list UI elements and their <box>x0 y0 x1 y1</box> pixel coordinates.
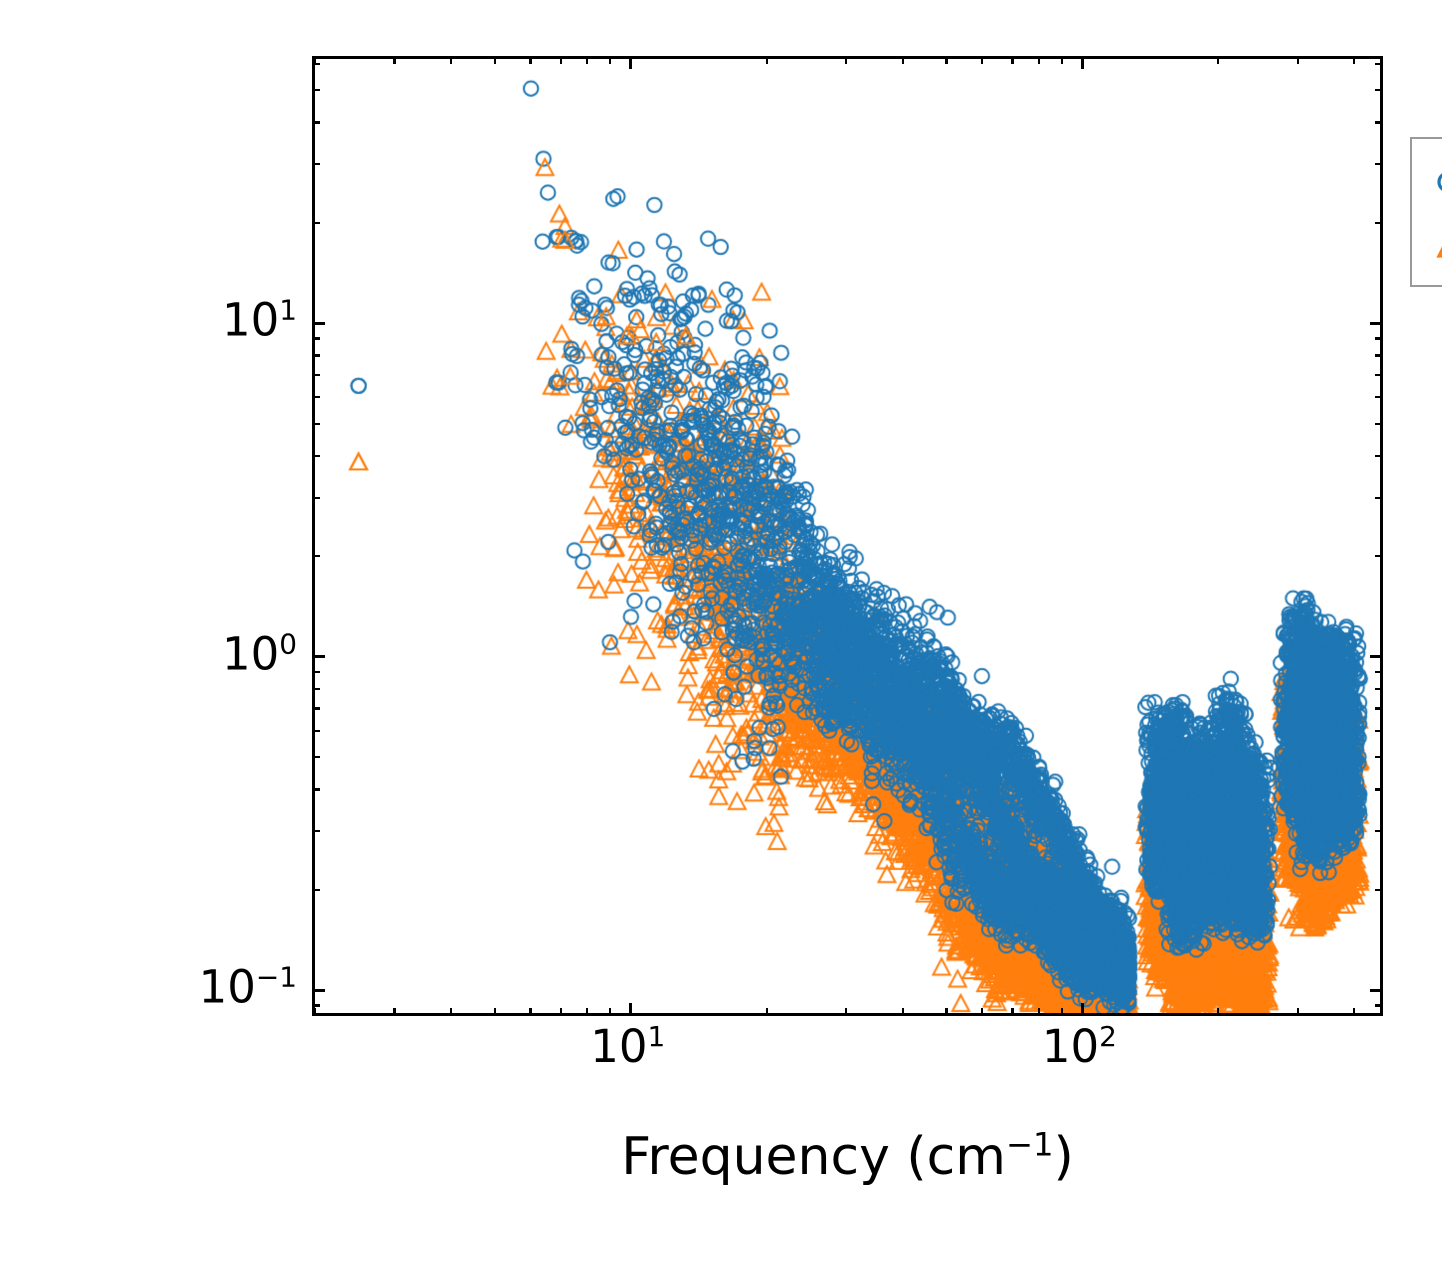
y-minor-tick <box>312 396 320 398</box>
x-tick-label: 102 <box>1042 1024 1117 1069</box>
x-axis-label-exponent: −1 <box>1006 1126 1054 1164</box>
x-tick-label: 101 <box>590 1024 665 1069</box>
y-minor-tick <box>312 788 320 790</box>
y-minor-tick-right <box>1375 756 1383 758</box>
x-minor-tick <box>845 1008 847 1016</box>
x-minor-tick <box>393 1008 395 1016</box>
x-minor-tick <box>766 1008 768 1016</box>
y-major-tick <box>312 322 325 325</box>
circle-open-icon <box>1412 165 1442 199</box>
y-minor-tick <box>312 555 320 557</box>
x-minor-tick <box>1353 1008 1355 1016</box>
y-minor-tick <box>312 830 320 832</box>
y-minor-tick-right <box>1375 707 1383 709</box>
y-minor-tick <box>312 222 320 224</box>
y-minor-tick-right <box>1375 788 1383 790</box>
x-minor-tick-top <box>1217 56 1219 64</box>
y-major-tick-right <box>1370 989 1383 992</box>
y-minor-tick <box>312 337 320 339</box>
y-tick-label-base: 10 <box>199 961 256 1014</box>
x-tick-label-base: 10 <box>1042 1020 1099 1073</box>
y-minor-tick-right <box>1375 889 1383 891</box>
x-minor-tick-top <box>1011 56 1013 64</box>
y-tick-label-base: 10 <box>222 627 279 680</box>
y-minor-tick-right <box>1375 455 1383 457</box>
y-minor-tick <box>312 89 320 91</box>
x-axis-label-text: Frequency (cm <box>621 1127 1006 1187</box>
x-axis-label: Frequency (cm−1) <box>312 1131 1383 1183</box>
y-minor-tick-right <box>1375 354 1383 356</box>
x-minor-tick <box>1297 1008 1299 1016</box>
figure-canvas: Lifetime (ps) Frequency (cm−1) 300K <box>0 0 1442 1265</box>
y-minor-tick <box>312 374 320 376</box>
y-minor-tick-right <box>1375 730 1383 732</box>
y-minor-tick-right <box>1375 396 1383 398</box>
y-tick-label-base: 10 <box>222 294 279 347</box>
y-minor-tick-right <box>1375 555 1383 557</box>
y-major-tick <box>312 655 325 658</box>
x-minor-tick-top <box>393 56 395 64</box>
x-minor-tick-top <box>845 56 847 64</box>
x-minor-tick <box>450 1008 452 1016</box>
x-minor-tick-top <box>766 56 768 64</box>
y-minor-tick <box>312 688 320 690</box>
y-tick-label-exponent: −1 <box>256 961 297 994</box>
x-minor-tick <box>945 1008 947 1016</box>
x-major-tick-top <box>1081 56 1084 69</box>
x-minor-tick <box>609 1008 611 1016</box>
y-minor-tick-right <box>1375 374 1383 376</box>
triangle-open-icon <box>1412 231 1442 265</box>
x-minor-tick-top <box>609 56 611 64</box>
y-minor-tick-right <box>1375 671 1383 673</box>
x-major-tick-top <box>629 56 632 69</box>
x-minor-tick <box>1038 1008 1040 1016</box>
y-minor-tick <box>312 730 320 732</box>
x-minor-tick <box>494 1008 496 1016</box>
y-minor-tick <box>312 354 320 356</box>
x-tick-label-exponent: 2 <box>1099 1020 1117 1053</box>
x-minor-tick-top <box>981 56 983 64</box>
x-minor-tick-top <box>494 56 496 64</box>
y-minor-tick <box>312 455 320 457</box>
y-minor-tick <box>312 707 320 709</box>
x-minor-tick <box>586 1008 588 1016</box>
legend-entry-500k: 500K <box>1412 217 1442 279</box>
y-minor-tick-right <box>1375 1004 1383 1006</box>
x-minor-tick-top <box>450 56 452 64</box>
x-minor-tick-top <box>902 56 904 64</box>
plot-axes: 300K 500K <box>312 56 1383 1016</box>
legend-box: 300K 500K <box>1410 137 1442 287</box>
y-minor-tick <box>312 889 320 891</box>
y-minor-tick-right <box>1375 89 1383 91</box>
y-minor-tick-right <box>1375 497 1383 499</box>
y-major-tick-right <box>1370 655 1383 658</box>
y-minor-tick-right <box>1375 163 1383 165</box>
x-minor-tick-top <box>529 56 531 64</box>
y-minor-tick-right <box>1375 63 1383 65</box>
y-minor-tick <box>312 497 320 499</box>
x-minor-tick-top <box>1038 56 1040 64</box>
y-minor-tick <box>312 671 320 673</box>
y-major-tick <box>312 989 325 992</box>
y-tick-label: 100 <box>222 631 297 676</box>
x-minor-tick <box>1011 1008 1013 1016</box>
y-tick-label-exponent: 1 <box>279 294 297 327</box>
y-tick-label: 10−1 <box>199 965 297 1010</box>
x-minor-tick <box>560 1008 562 1016</box>
y-major-tick-right <box>1370 322 1383 325</box>
x-minor-tick <box>1217 1008 1219 1016</box>
y-minor-tick-right <box>1375 121 1383 123</box>
y-minor-tick <box>312 121 320 123</box>
x-minor-tick-top <box>945 56 947 64</box>
y-tick-label-exponent: 0 <box>279 627 297 660</box>
x-minor-tick <box>314 1008 316 1016</box>
x-minor-tick-top <box>1353 56 1355 64</box>
y-minor-tick-right <box>1375 423 1383 425</box>
x-minor-tick <box>1061 1008 1063 1016</box>
x-tick-label-exponent: 1 <box>647 1020 665 1053</box>
scatter-plot-canvas <box>315 59 1380 1013</box>
x-axis-label-tail: ) <box>1053 1127 1073 1187</box>
x-major-tick <box>1081 1003 1084 1016</box>
x-minor-tick-top <box>586 56 588 64</box>
y-minor-tick-right <box>1375 688 1383 690</box>
x-minor-tick-top <box>1061 56 1063 64</box>
x-minor-tick-top <box>1297 56 1299 64</box>
y-tick-label: 101 <box>222 298 297 343</box>
y-minor-tick <box>312 756 320 758</box>
y-minor-tick-right <box>1375 222 1383 224</box>
x-minor-tick <box>529 1008 531 1016</box>
x-tick-label-base: 10 <box>590 1020 647 1073</box>
x-major-tick <box>629 1003 632 1016</box>
y-minor-tick <box>312 163 320 165</box>
y-minor-tick-right <box>1375 830 1383 832</box>
x-minor-tick-top <box>560 56 562 64</box>
y-minor-tick <box>312 63 320 65</box>
y-minor-tick <box>312 423 320 425</box>
x-minor-tick <box>902 1008 904 1016</box>
y-minor-tick <box>312 1004 320 1006</box>
x-minor-tick <box>981 1008 983 1016</box>
legend-entry-300k: 300K <box>1412 151 1442 213</box>
y-minor-tick-right <box>1375 337 1383 339</box>
